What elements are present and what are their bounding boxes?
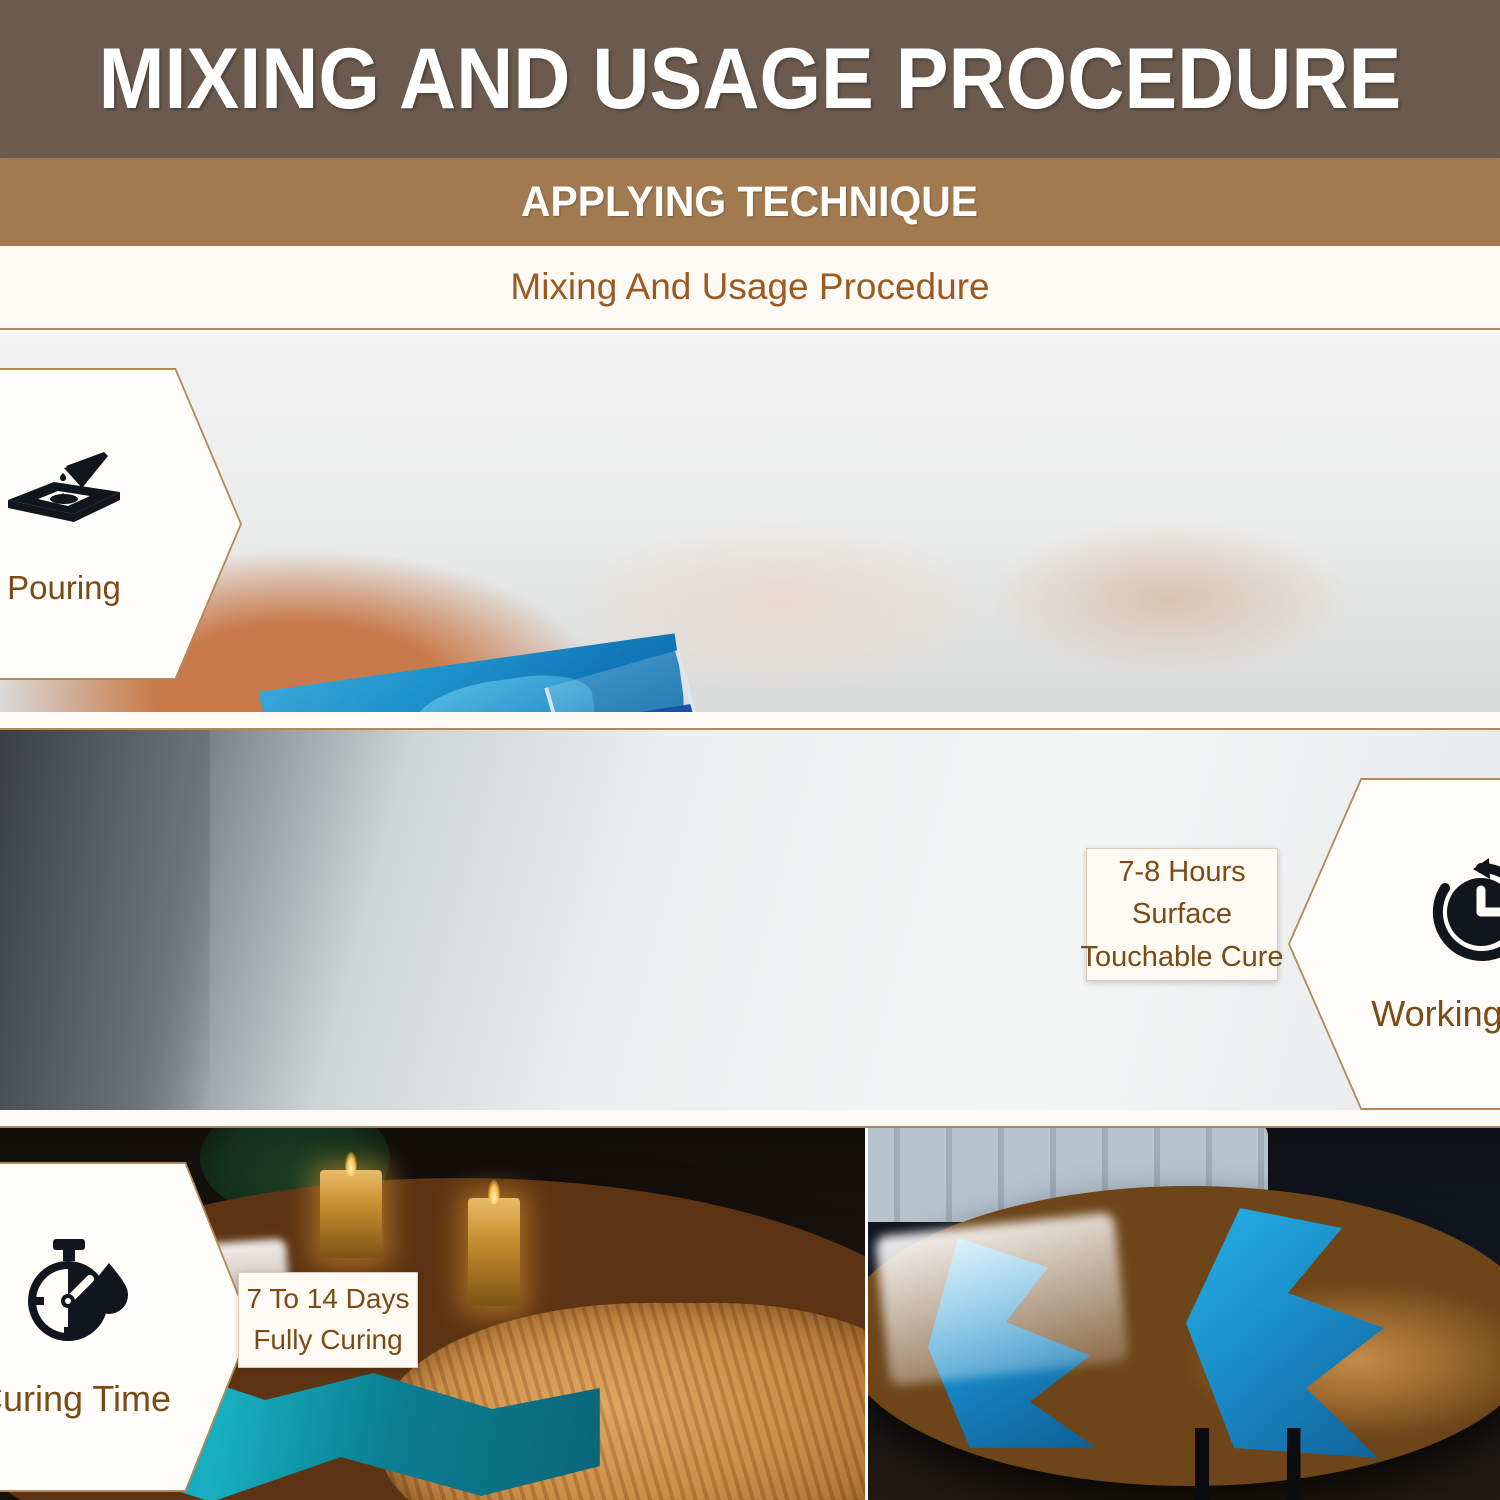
badge-pouring-label: Pouring: [7, 569, 121, 607]
candle-right: [468, 1198, 520, 1306]
callout-curing-time: 7 To 14 Days Fully Curing: [238, 1272, 418, 1368]
badge-working-time[interactable]: Working Time: [1288, 778, 1500, 1110]
badge-curing-time-inner: Curing Time: [0, 1164, 250, 1490]
panel-divider-2: [0, 1110, 1500, 1128]
table-legs: [1168, 1428, 1338, 1500]
badge-curing-time[interactable]: Curing Time: [0, 1162, 252, 1492]
subtitle-band: APPLYING TECHNIQUE: [0, 158, 1500, 246]
panel-divider-1: [0, 712, 1500, 730]
clock-rotate-icon: [1427, 854, 1500, 967]
callout-curing-line1: 7 To 14 Days: [247, 1279, 410, 1320]
title-band: MIXING AND USAGE PROCEDURE: [0, 0, 1500, 158]
subtitle: APPLYING TECHNIQUE: [521, 178, 978, 227]
badge-curing-time-label: Curing Time: [0, 1378, 171, 1420]
pouring-icon: [4, 442, 124, 533]
wall-shadow: [0, 730, 210, 1110]
badge-working-time-label: Working Time: [1371, 993, 1500, 1035]
callout-working-line1: 7-8 Hours: [1118, 851, 1245, 893]
table-glare: [875, 1212, 1129, 1386]
callout-curing-line2: Fully Curing: [253, 1320, 402, 1361]
caption: Mixing And Usage Procedure: [510, 266, 989, 308]
caption-band: Mixing And Usage Procedure: [0, 246, 1500, 330]
badge-curing-time-frame: Curing Time: [0, 1162, 252, 1492]
callout-working-time: 7-8 Hours Surface Touchable Cure: [1086, 848, 1278, 981]
badge-working-time-inner: Working Time: [1290, 780, 1500, 1108]
badge-pouring[interactable]: Pouring: [0, 368, 242, 680]
callout-working-line3: Touchable Cure: [1080, 936, 1283, 978]
candle-left: [320, 1170, 382, 1258]
stopwatch-droplet-icon: [16, 1235, 132, 1348]
callout-working-line2: Surface: [1132, 893, 1232, 935]
page-title: MIXING AND USAGE PROCEDURE: [99, 36, 1402, 122]
badge-pouring-frame: Pouring: [0, 368, 242, 680]
photo-finished-round-table: [868, 1128, 1500, 1500]
badge-working-time-frame: Working Time: [1288, 778, 1500, 1110]
badge-pouring-inner: Pouring: [0, 370, 240, 678]
